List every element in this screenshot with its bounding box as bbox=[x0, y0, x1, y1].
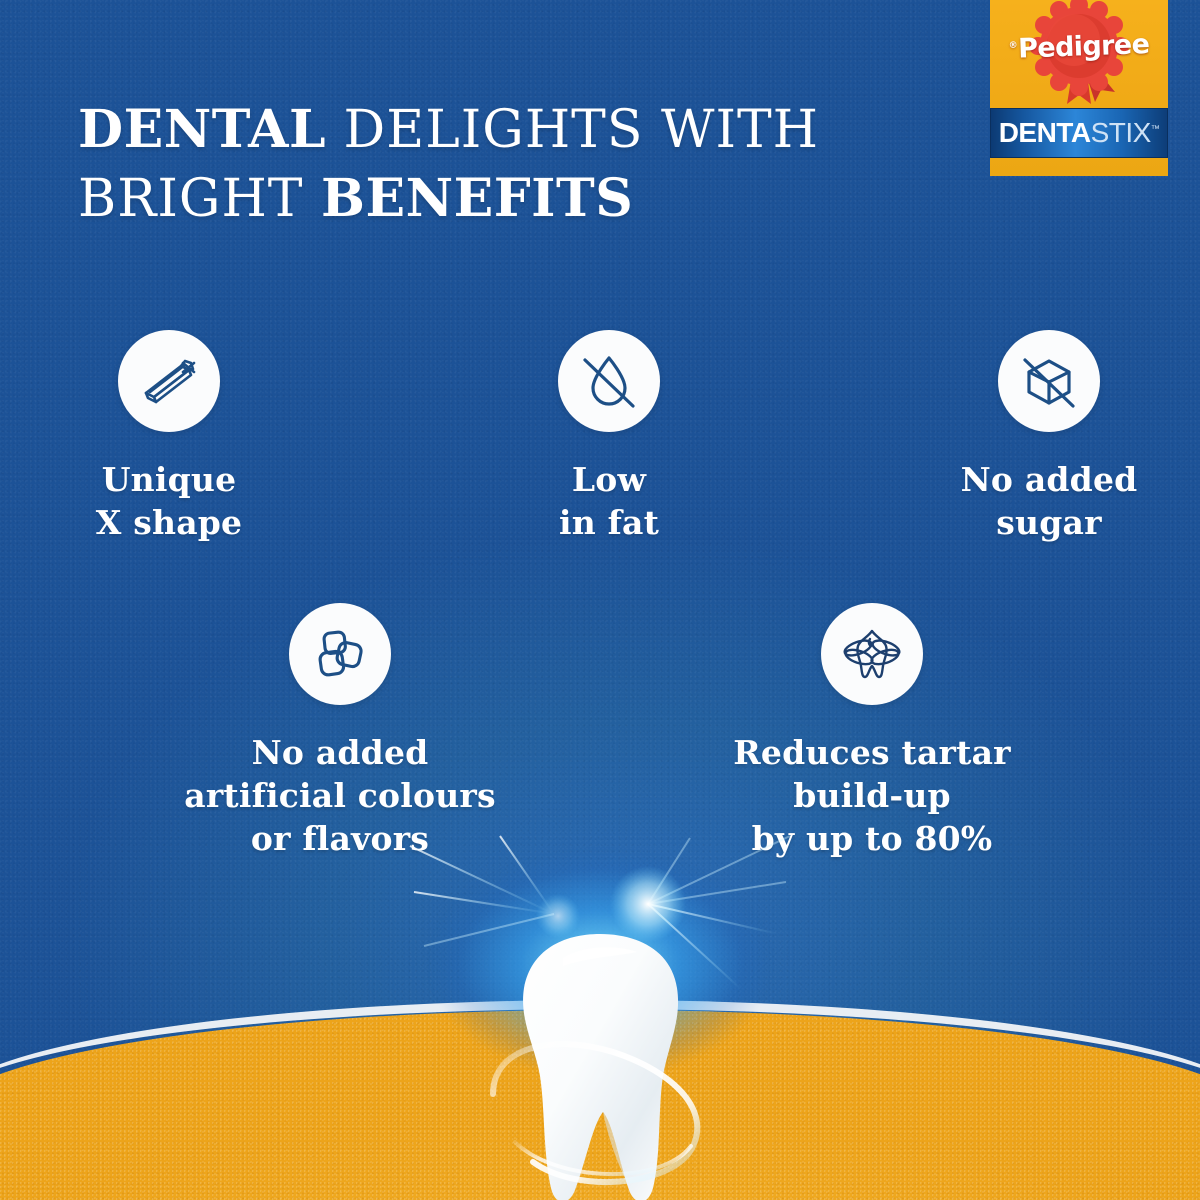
benefit-unique-x-shape: Unique X shape bbox=[44, 330, 294, 545]
white-arc-divider bbox=[0, 1000, 1200, 1200]
no-fat-droplet-icon bbox=[558, 330, 660, 432]
benefit-label: No added sugar bbox=[961, 459, 1138, 545]
benefit-label: Reduces tartar build-up by up to 80% bbox=[733, 732, 1010, 861]
promo-canvas: DENTAL DELIGHTS WITH BRIGHT BENEFITS bbox=[0, 0, 1200, 1200]
benefits-row-2: No added artificial colours or flavors R… bbox=[0, 603, 1200, 861]
headline-dental: DENTAL bbox=[78, 99, 326, 160]
benefit-label: No added artificial colours or flavors bbox=[184, 732, 496, 861]
headline: DENTAL DELIGHTS WITH BRIGHT BENEFITS bbox=[78, 96, 958, 233]
benefit-no-artificial-colours: No added artificial colours or flavors bbox=[160, 603, 520, 861]
dentastix-stix: STIX bbox=[1091, 117, 1151, 148]
benefit-low-in-fat: Low in fat bbox=[484, 330, 734, 545]
sparkling-tooth-icon bbox=[821, 603, 923, 705]
headline-delights-with: DELIGHTS WITH bbox=[326, 100, 819, 160]
pedigree-name: Pedigree bbox=[1018, 29, 1150, 65]
pedigree-wordmark: ®Pedigree bbox=[1008, 29, 1150, 65]
benefits-grid: Unique X shape Low in fat bbox=[0, 330, 1200, 860]
benefit-label: Unique X shape bbox=[96, 459, 243, 545]
no-sugar-cube-icon bbox=[998, 330, 1100, 432]
dentastix-bar: DENTASTIX™ bbox=[990, 108, 1168, 158]
headline-line-2: BRIGHT BENEFITS bbox=[78, 165, 958, 234]
benefit-label: Low in fat bbox=[559, 459, 659, 545]
trademark-mark: ™ bbox=[1151, 124, 1160, 134]
benefit-no-added-sugar: No added sugar bbox=[924, 330, 1174, 545]
headline-line-1: DENTAL DELIGHTS WITH bbox=[78, 96, 958, 165]
x-shape-stick-icon bbox=[118, 330, 220, 432]
brand-logo-block: ®Pedigree DENTASTIX™ bbox=[990, 0, 1168, 176]
dentastix-denta: DENTA bbox=[999, 117, 1091, 148]
headline-benefits: BENEFITS bbox=[321, 168, 633, 229]
artificial-colours-tiles-icon bbox=[289, 603, 391, 705]
dentastix-wordmark: DENTASTIX™ bbox=[999, 119, 1160, 147]
benefits-row-1: Unique X shape Low in fat bbox=[0, 330, 1200, 545]
headline-bright: BRIGHT bbox=[78, 169, 321, 229]
benefit-reduces-tartar: Reduces tartar build-up by up to 80% bbox=[692, 603, 1052, 861]
gold-bottom-band bbox=[0, 960, 1200, 1200]
registered-mark: ® bbox=[1008, 41, 1017, 51]
